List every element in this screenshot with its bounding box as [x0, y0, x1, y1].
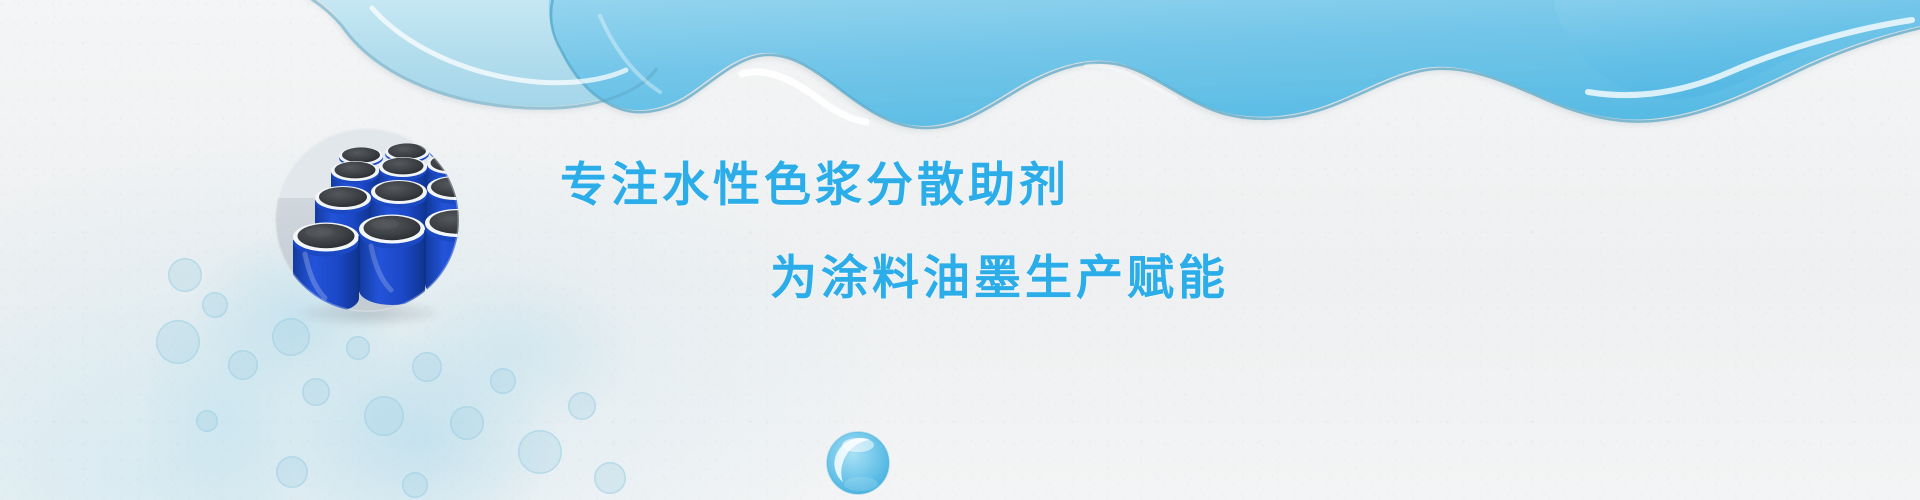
splash-bubble: [168, 258, 202, 292]
splash-bubble: [490, 368, 516, 394]
splash-bubble: [450, 406, 484, 440]
bubble-bottom-glow: [844, 477, 878, 491]
headline-block: 专注水性色浆分散助剂 为涂料油墨生产赋能: [560, 160, 1540, 303]
bubble-top-gloss: [842, 438, 874, 452]
blue-drums-photo: [275, 128, 459, 312]
splash-bubble: [402, 472, 428, 498]
splash-bubble: [346, 336, 370, 360]
splash-bubble: [228, 350, 258, 380]
splash-bubble: [202, 292, 228, 318]
splash-bubble: [412, 352, 442, 382]
splash-bubble: [156, 320, 200, 364]
splash-bubble: [196, 410, 218, 432]
splash-bubble: [594, 462, 626, 494]
splash-bubble: [568, 392, 596, 420]
splash-bubble: [276, 456, 308, 488]
headline-line-2: 为涂料油墨生产赋能: [770, 253, 1540, 302]
splash-bubble: [272, 318, 310, 356]
headline-line-1: 专注水性色浆分散助剂: [560, 160, 1540, 209]
splash-bubble: [518, 430, 562, 474]
water-bubble: [825, 430, 891, 496]
splash-bubble: [364, 396, 404, 436]
blue-drums-illustration: [275, 128, 459, 312]
promo-banner: 专注水性色浆分散助剂 为涂料油墨生产赋能: [0, 0, 1920, 500]
splash-bubble: [302, 378, 330, 406]
liquid-drip-shape: [0, 0, 1920, 160]
